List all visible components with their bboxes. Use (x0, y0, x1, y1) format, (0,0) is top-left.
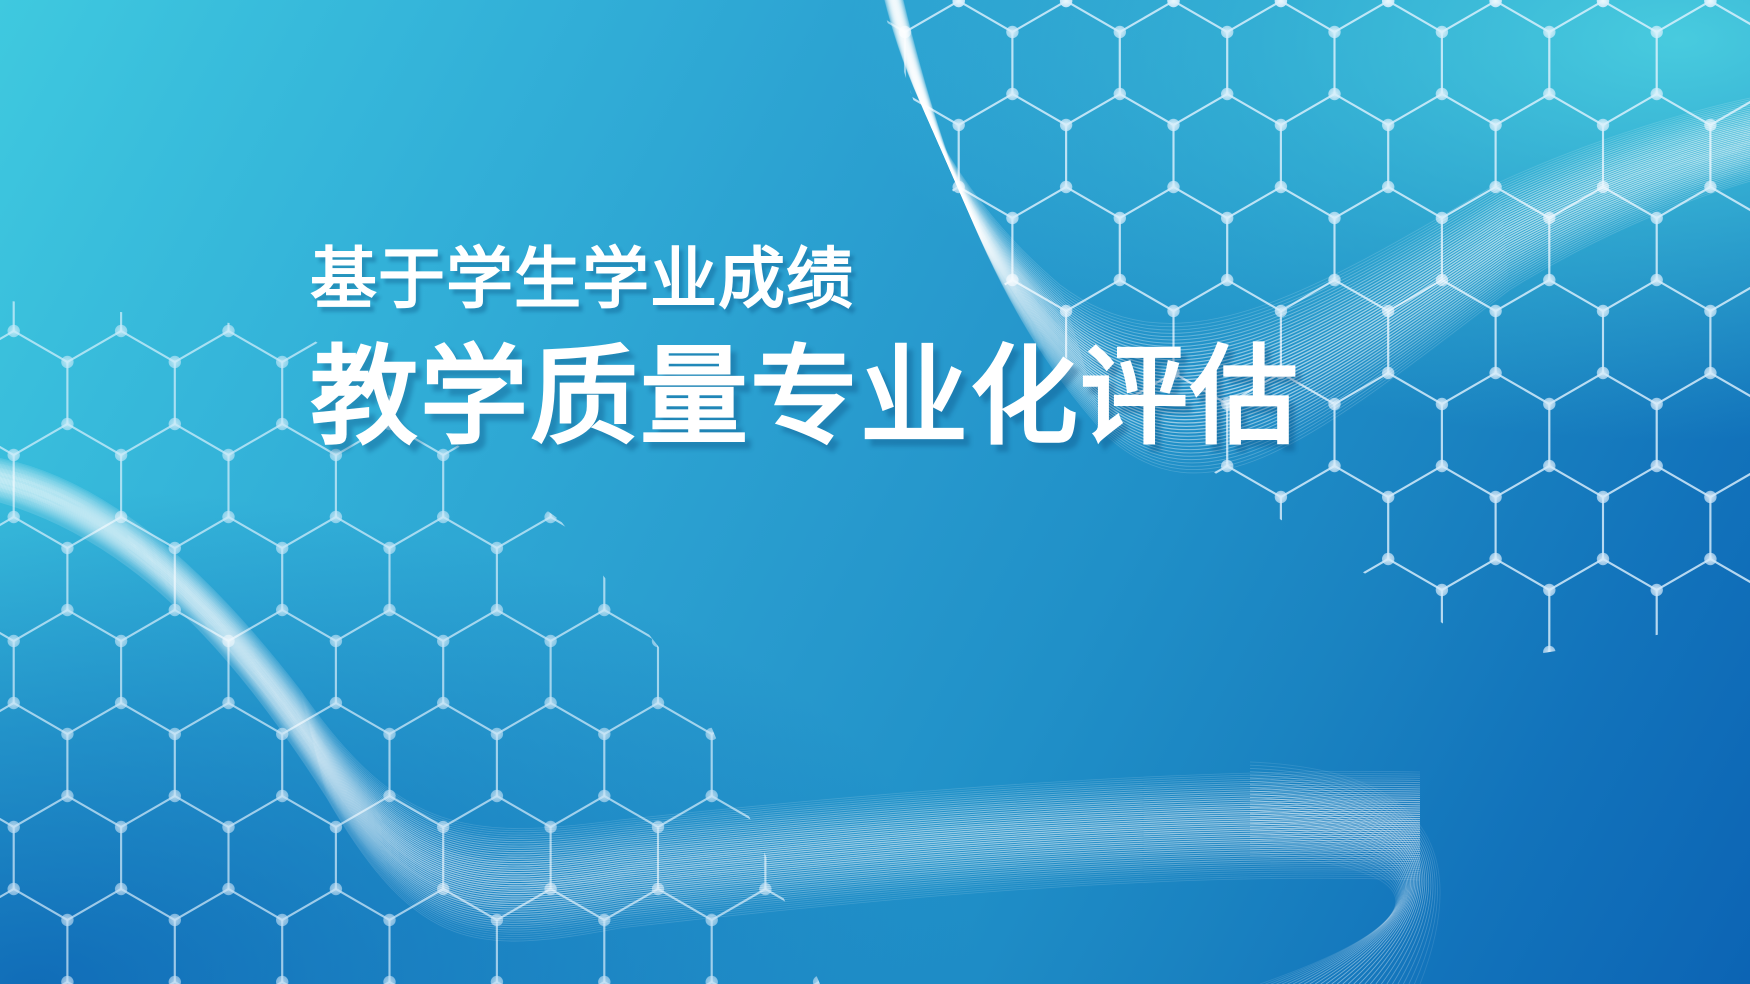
background-shade-bottom-left (0, 0, 1750, 984)
slide-subtitle: 基于学生学业成绩 (310, 246, 1300, 313)
title-text-block: 基于学生学业成绩 教学质量专业化评估 (310, 246, 1300, 451)
slide-title: 教学质量专业化评估 (310, 343, 1300, 451)
title-slide: 基于学生学业成绩 教学质量专业化评估 (0, 0, 1750, 984)
